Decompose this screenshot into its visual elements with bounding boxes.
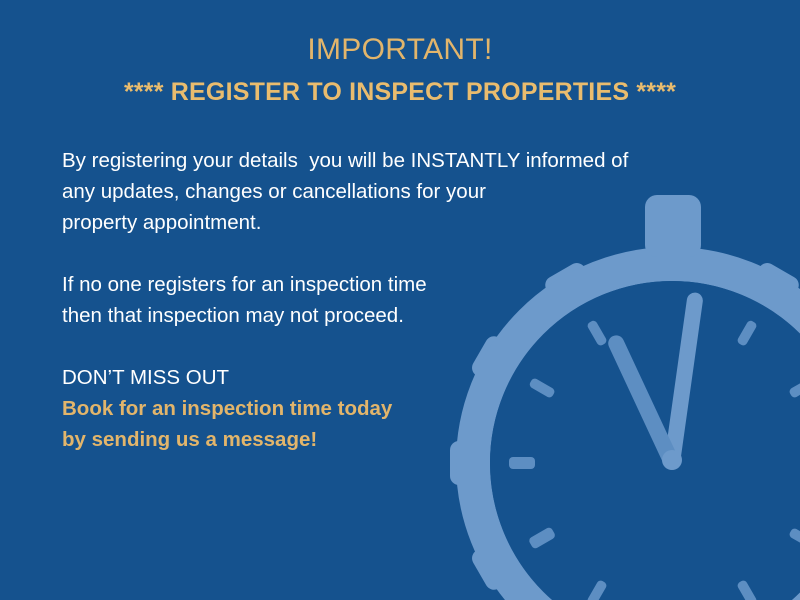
call-to-action-line: by sending us a message! [62,424,722,455]
paragraph-line: property appointment. [62,207,722,238]
paragraph-spacer [62,238,722,269]
headings-block: IMPORTANT! **** REGISTER TO INSPECT PROP… [0,30,800,110]
call-to-action-line: Book for an inspection time today [62,393,722,424]
slide-canvas: IMPORTANT! **** REGISTER TO INSPECT PROP… [0,0,800,600]
paragraph-registering: By registering your details you will be … [62,145,722,238]
paragraph-spacer [62,331,722,362]
paragraph-line: By registering your details you will be … [62,145,722,176]
paragraph-dont-miss-out: DON’T MISS OUT Book for an inspection ti… [62,362,722,455]
paragraph-line: If no one registers for an inspection ti… [62,269,722,300]
body-copy: By registering your details you will be … [62,145,722,455]
paragraph-line: then that inspection may not proceed. [62,300,722,331]
paragraph-line: any updates, changes or cancellations fo… [62,176,722,207]
paragraph-no-registration: If no one registers for an inspection ti… [62,269,722,331]
page-subtitle: **** REGISTER TO INSPECT PROPERTIES **** [0,74,800,110]
dont-miss-out-line: DON’T MISS OUT [62,362,722,393]
page-title: IMPORTANT! [0,30,800,70]
